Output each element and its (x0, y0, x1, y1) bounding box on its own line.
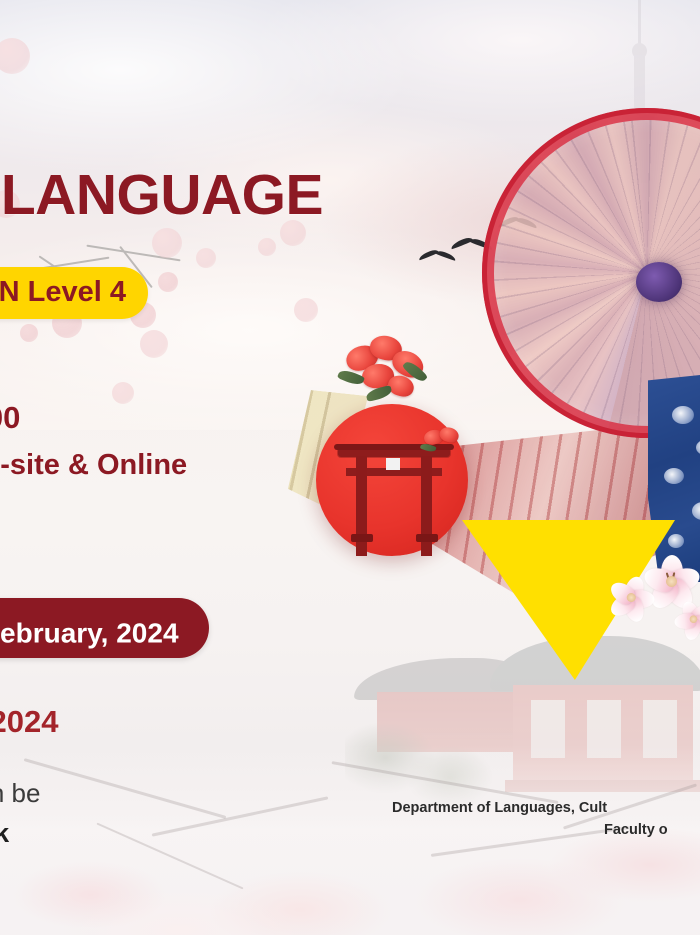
torii-gate-icon (338, 448, 450, 556)
page-title: E LANGUAGE (0, 162, 323, 228)
department-name: Department of Languages, Cult (392, 797, 700, 819)
deadline-text-suffix: February, 2024 (0, 617, 179, 648)
level-badge: PLT/N Level 4 (0, 267, 148, 319)
red-camellia-flowers-icon (418, 424, 484, 472)
department-block: Department of Languages, Cult Faculty o (392, 797, 700, 842)
more-info-text: details can be (0, 778, 40, 809)
start-date: BRUARY 2024 (0, 704, 58, 740)
petal-decoration-icon (294, 298, 318, 322)
cherry-blossom-flower-icon (599, 567, 662, 628)
petal-decoration-icon (258, 238, 276, 256)
petal-decoration-icon (112, 382, 134, 404)
petal-decoration-icon (196, 248, 216, 268)
fee-amount: ,000 (0, 400, 20, 436)
deadline-banner: dline - 16h February, 2024 (0, 598, 209, 658)
petal-decoration-icon (152, 228, 182, 258)
pagoda-tower-silhouette-icon (620, 0, 660, 185)
delivery-mode: On-site & Online (0, 449, 187, 482)
folding-hand-fan-red-overlay-icon (424, 421, 686, 613)
cherry-blossom-flower-icon (640, 552, 700, 610)
faculty-name: Faculty o (392, 819, 700, 841)
petal-decoration-icon (140, 330, 168, 358)
website-url[interactable]: s.sjp.ac.lk (0, 818, 9, 849)
poster-canvas: E LANGUAGE PLT/N Level 4 F ,000 On-site … (0, 0, 700, 935)
